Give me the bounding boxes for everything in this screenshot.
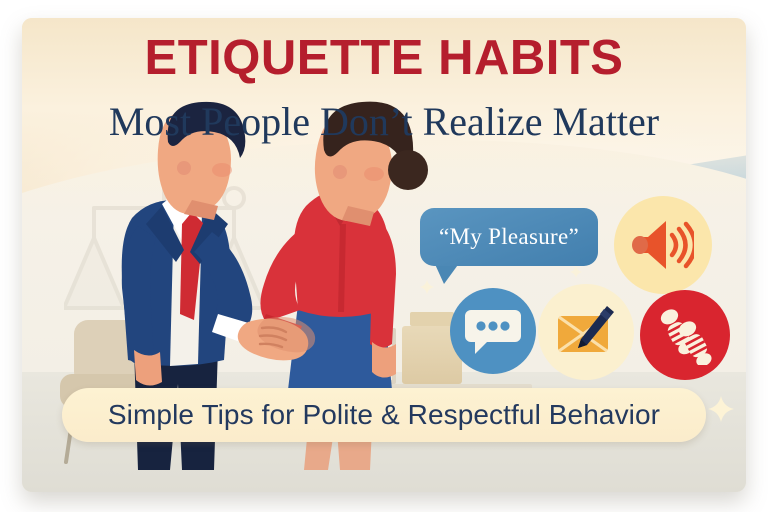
envelope-pen-icon — [555, 304, 617, 360]
page-title: ETIQUETTE HABITS — [22, 32, 746, 85]
page-subtitle: Most People Don’t Realize Matter — [22, 100, 746, 144]
bottom-banner: Simple Tips for Polite & Respectful Beha… — [62, 388, 706, 442]
megaphone-speaker-icon — [632, 218, 694, 272]
speech-bubble: “My Pleasure” — [420, 208, 598, 266]
mail-icon-badge — [538, 284, 634, 380]
handshake-hands — [238, 317, 315, 360]
four-point-star-icon-tiny — [570, 266, 582, 278]
four-point-star-icon-small — [420, 280, 434, 294]
speaker-icon-badge — [614, 196, 712, 294]
poster-card: “My Pleasure” — [22, 18, 746, 492]
four-point-star-icon — [708, 396, 734, 422]
chat-icon-badge — [450, 288, 536, 374]
speech-bubble-text: “My Pleasure” — [439, 224, 579, 250]
footprints-icon — [655, 305, 715, 365]
bottom-banner-text: Simple Tips for Polite & Respectful Beha… — [108, 399, 660, 431]
chat-bubble-dots-icon — [465, 306, 521, 356]
poster-canvas: “My Pleasure” — [0, 0, 768, 512]
footprints-icon-badge — [640, 290, 730, 380]
